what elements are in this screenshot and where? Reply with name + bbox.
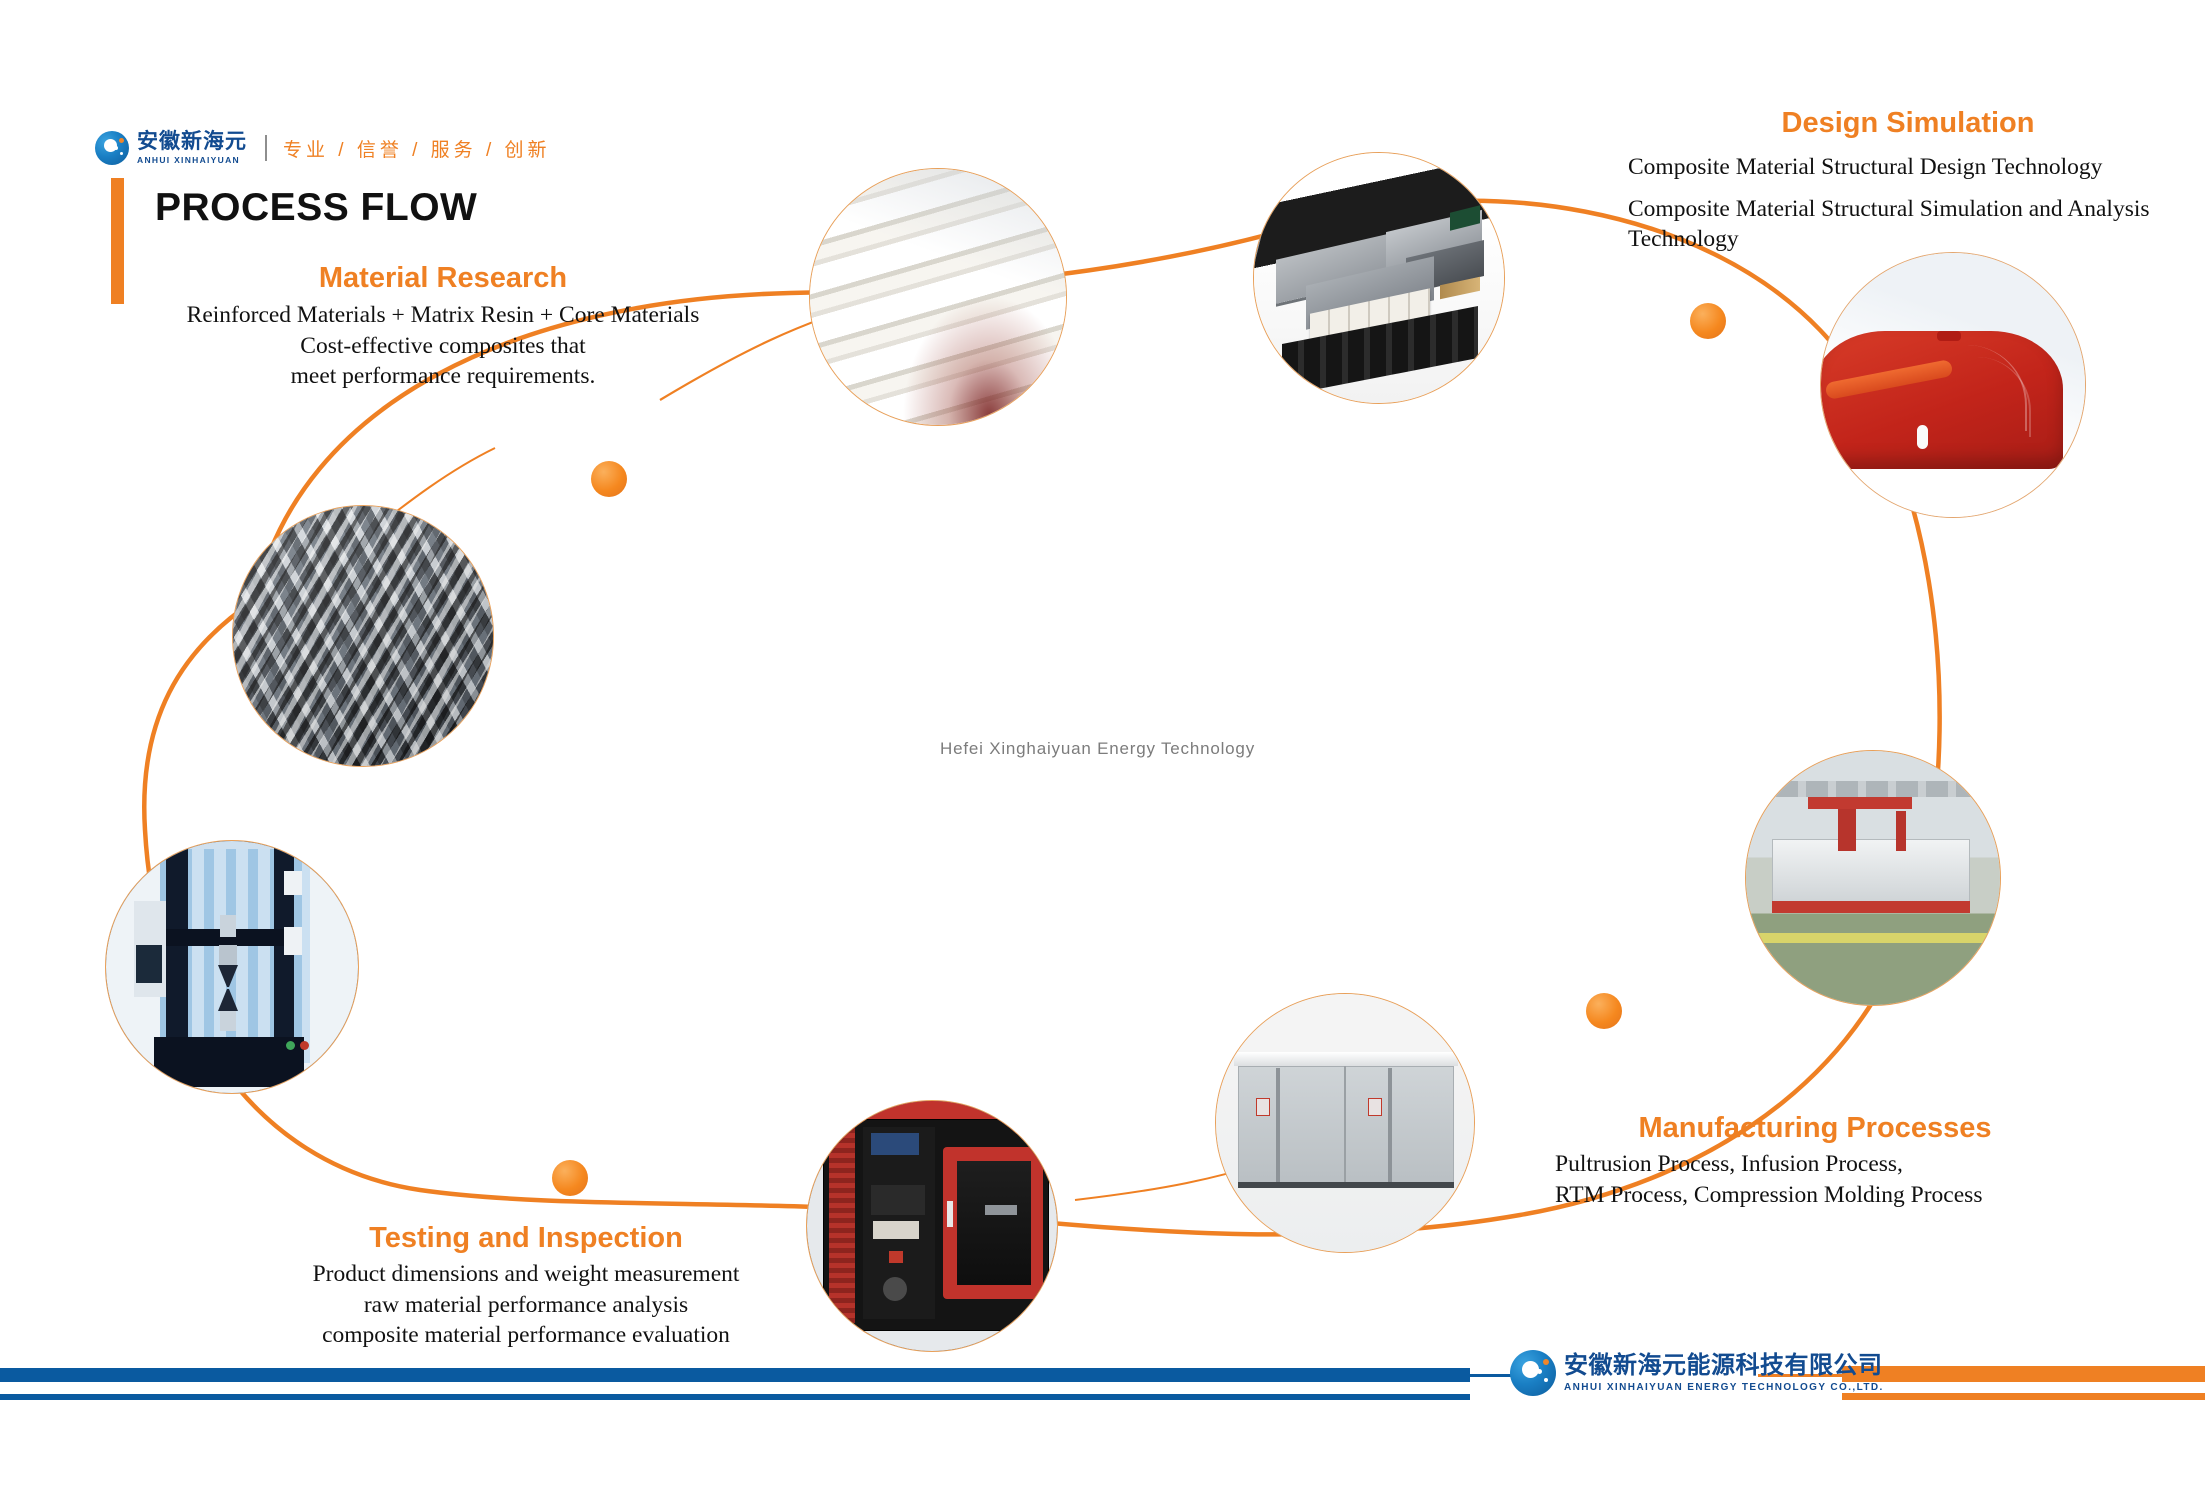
- section-line: Cost-effective composites that: [148, 331, 738, 362]
- flow-node-4[interactable]: [552, 1160, 588, 1196]
- company-logo-icon: [95, 131, 129, 165]
- footer-company-en: ANHUI XINHAIYUAN ENERGY TECHNOLOGY CO.,L…: [1564, 1382, 1884, 1393]
- photo-carbon-fiber-weave: [232, 505, 494, 767]
- section-heading: Material Research: [148, 262, 738, 295]
- flow-node-2[interactable]: [1690, 303, 1726, 339]
- section-heading: Testing and Inspection: [276, 1222, 776, 1255]
- section-line: raw material performance analysis: [276, 1290, 776, 1321]
- photo-battery-pack-assembly: [1253, 152, 1505, 404]
- section-line: Pultrusion Process, Infusion Process,: [1555, 1149, 2075, 1180]
- photo-foam-core-boards: [809, 168, 1067, 426]
- footer-orange-bar-thick: [1842, 1366, 2205, 1382]
- photo-pultrusion-production-line: [1745, 750, 2001, 1006]
- footer-blue-bar-thin: [0, 1394, 1470, 1400]
- section-design-simulation: Design Simulation Composite Material Str…: [1628, 107, 2188, 266]
- section-line: RTM Process, Compression Molding Process: [1555, 1180, 2075, 1211]
- page-title-accent-bar: [111, 178, 124, 304]
- footer-logo-icon: [1510, 1350, 1556, 1396]
- section-line: Reinforced Materials + Matrix Resin + Co…: [148, 300, 738, 331]
- section-testing-and-inspection: Testing and Inspection Product dimension…: [276, 1222, 776, 1351]
- header-logo-cn: 安徽新海元: [137, 131, 247, 153]
- footer-orange-bar-thin: [1842, 1393, 2205, 1400]
- flow-node-1[interactable]: [591, 461, 627, 497]
- section-line: meet performance requirements.: [148, 361, 738, 392]
- header-divider: [265, 135, 267, 161]
- section-heading: Manufacturing Processes: [1555, 1112, 2075, 1145]
- photo-red-cad-enclosure-model: [1820, 252, 2086, 518]
- section-material-research: Material Research Reinforced Materials +…: [148, 262, 738, 392]
- brand-header: 安徽新海元 ANHUI XINHAIYUAN 专业 / 信誉 / 服务 / 创新: [95, 131, 551, 165]
- section-manufacturing-processes: Manufacturing Processes Pultrusion Proce…: [1555, 1112, 2075, 1210]
- footer-company-cn: 安徽新海元能源科技有限公司: [1564, 1353, 1884, 1379]
- photo-curing-oven-cabinet: [1215, 993, 1475, 1253]
- page-title: PROCESS FLOW: [155, 186, 477, 230]
- photo-environmental-test-chamber: [806, 1100, 1058, 1352]
- center-watermark: Hefei Xinghaiyuan Energy Technology: [940, 739, 1255, 759]
- header-logo-en: ANHUI XINHAIYUAN: [137, 155, 247, 165]
- photo-universal-testing-machine: [105, 840, 359, 1094]
- footer-brand-lockup: 安徽新海元能源科技有限公司 ANHUI XINHAIYUAN ENERGY TE…: [1510, 1350, 1884, 1396]
- section-line: Product dimensions and weight measuremen…: [276, 1259, 776, 1290]
- header-slogan: 专业 / 信誉 / 服务 / 创新: [283, 135, 551, 162]
- section-line: composite material performance evaluatio…: [276, 1320, 776, 1351]
- flow-node-3[interactable]: [1586, 993, 1622, 1029]
- infographic-canvas: 安徽新海元 ANHUI XINHAIYUAN 专业 / 信誉 / 服务 / 创新…: [0, 0, 2205, 1496]
- section-line: Composite Material Structural Simulation…: [1628, 194, 2188, 255]
- section-line: Composite Material Structural Design Tec…: [1628, 152, 2188, 183]
- footer-blue-bar-thick: [0, 1368, 1470, 1382]
- section-heading: Design Simulation: [1628, 107, 2188, 140]
